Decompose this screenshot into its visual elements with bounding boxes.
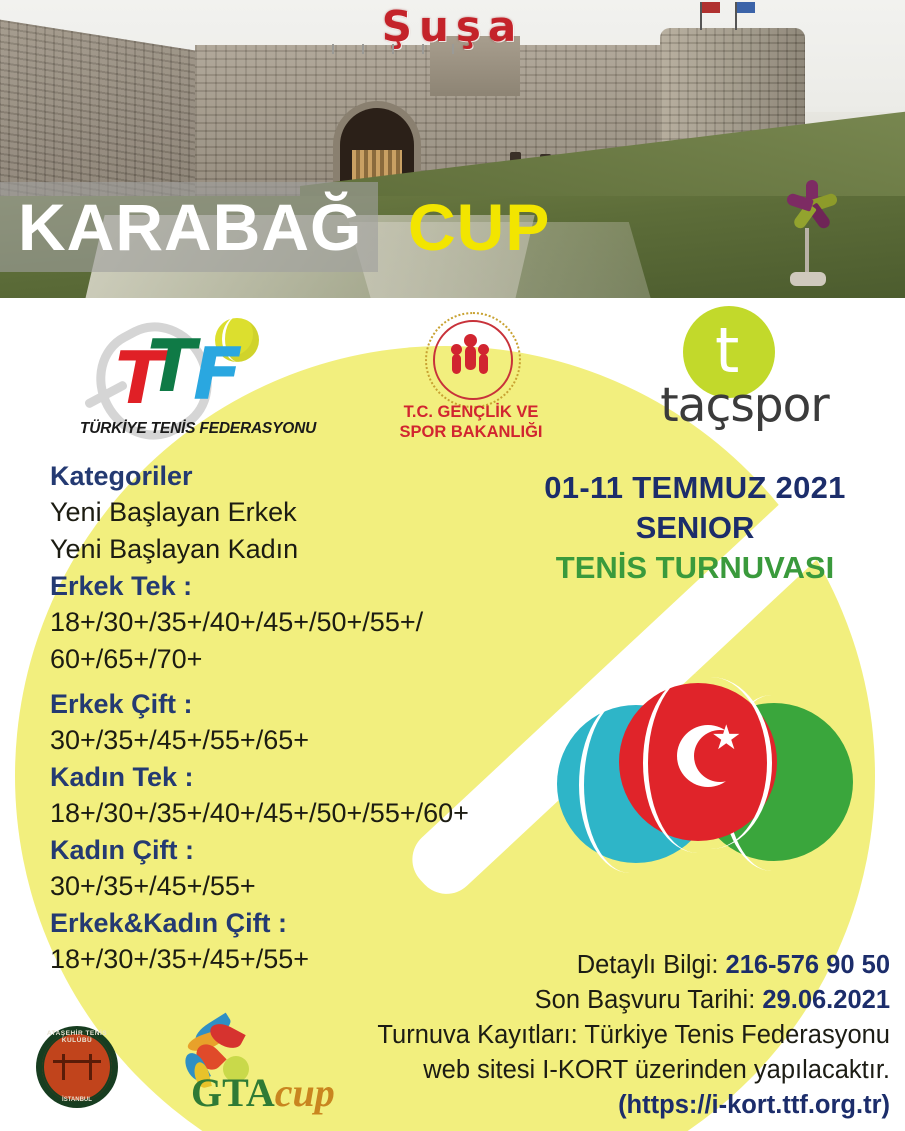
ttf-letter-t2: T [147, 330, 196, 402]
event-type: TENİS TURNUVASI [500, 548, 890, 588]
poster-body: T T F TÜRKİYE TENİS FEDERASYONU T.C. GEN… [0, 298, 905, 1131]
contact-phone-line: Detaylı Bilgi: 216-576 90 50 [330, 948, 890, 983]
contact-deadline-label: Son Başvuru Tarihi: [535, 986, 763, 1014]
category-group-label: Kadın Çift : [50, 832, 520, 868]
category-item-label: Yeni Başlayan Erkek [50, 494, 520, 531]
bridge-icon [53, 1060, 101, 1079]
registration-line-1: Turnuva Kayıtları: Türkiye Tenis Federas… [330, 1018, 890, 1053]
tournament-poster: Şuşa KARABAĞ CUP T T F TÜRKİYE TENİS FED… [0, 0, 905, 1131]
category-group-label: Erkek Çift : [50, 686, 520, 722]
contact-phone-value: 216-576 90 50 [726, 951, 890, 979]
ttf-logo: T T F TÜRKİYE TENİS FEDERASYONU [95, 316, 305, 436]
header-photo: Şuşa KARABAĞ CUP [0, 0, 905, 298]
categories-block: Kategoriler Yeni Başlayan Erkek Yeni Baş… [50, 458, 520, 978]
ministry-logo-caption: T.C. GENÇLİK VE SPOR BAKANLIĞI [371, 402, 571, 442]
category-group-values: 30+/35+/45+/55+ [50, 868, 520, 905]
tacspor-wordmark: taçspor [637, 380, 852, 432]
contact-block: Detaylı Bilgi: 216-576 90 50 Son Başvuru… [330, 948, 890, 1123]
category-group-label: Erkek Tek : [50, 568, 520, 604]
ministry-caption-line2: SPOR BAKANLIĞI [371, 422, 571, 442]
ttf-logo-caption: TÜRKİYE TENİS FEDERASYONU [73, 420, 323, 438]
event-info-block: 01-11 TEMMUZ 2021 SENIOR TENİS TURNUVASI [500, 468, 890, 588]
event-level: SENIOR [500, 508, 890, 548]
ministry-figures-icon [451, 336, 491, 382]
ministry-caption-line1: T.C. GENÇLİK VE [371, 402, 571, 422]
category-group-values-cont: 60+/65+/70+ [50, 641, 520, 678]
categories-heading: Kategoriler [50, 458, 520, 494]
poster-title-accent: CUP [408, 190, 550, 264]
ministry-logo: T.C. GENÇLİK VE SPOR BAKANLIĞI [385, 312, 555, 442]
tacspor-mark-letter: t [715, 320, 739, 382]
tacspor-logo: t taçspor [645, 306, 845, 441]
registration-url[interactable]: (https://i-kort.ttf.org.tr) [330, 1088, 890, 1123]
ttf-letter-f: F [193, 338, 242, 410]
pinwheel-sculpture [782, 176, 840, 234]
gtacup-name: GTA [191, 1070, 275, 1115]
contact-phone-label: Detaylı Bilgi: [577, 951, 726, 979]
category-group-label: Kadın Tek : [50, 759, 520, 795]
event-dates: 01-11 TEMMUZ 2021 [500, 468, 890, 508]
sponsor-logo-gtacup: GTAcup [165, 1020, 335, 1115]
contact-deadline-value: 29.06.2021 [762, 986, 890, 1014]
sculpture-pole [805, 228, 809, 276]
category-group-values: 30+/35+/45+/55+/65+ [50, 722, 520, 759]
gtacup-suffix: cup [275, 1070, 335, 1115]
club-badge-top-text: ATAŞEHİR TENİS KULÜBÜ [36, 1030, 118, 1044]
category-item-label: Yeni Başlayan Kadın [50, 531, 520, 568]
category-group-label: Erkek&Kadın Çift : [50, 905, 520, 941]
tennis-balls-graphic: ★ [545, 683, 875, 883]
category-group-values: 18+/30+/35+/40+/45+/50+/55+/60+ [50, 795, 520, 832]
contact-deadline-line: Son Başvuru Tarihi: 29.06.2021 [330, 983, 890, 1018]
gtacup-wordmark: GTAcup [191, 1072, 335, 1114]
tennis-ball-red-turkish-flag: ★ [619, 683, 777, 841]
club-badge-bottom-text: İSTANBUL [36, 1097, 118, 1103]
susa-sign-supports [318, 44, 478, 54]
sponsor-logo-atasehir-tennis-club: ATAŞEHİR TENİS KULÜBÜ İSTANBUL [36, 1026, 118, 1108]
registration-line-2: web sitesi I-KORT üzerinden yapılacaktır… [330, 1053, 890, 1088]
category-group-values: 18+/30+/35+/40+/45+/50+/55+/ [50, 604, 520, 641]
poster-title-main: KARABAĞ [18, 190, 362, 264]
sculpture-base [790, 272, 826, 286]
